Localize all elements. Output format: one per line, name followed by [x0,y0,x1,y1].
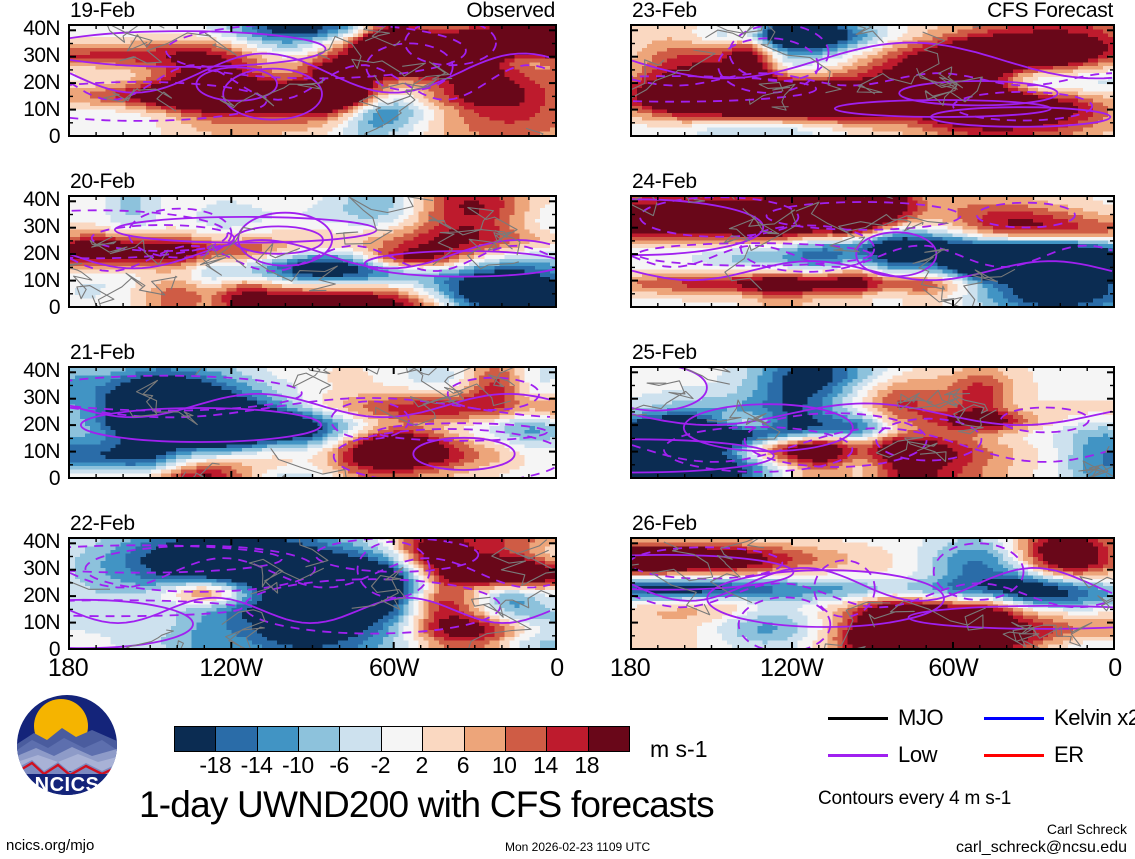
y-tick-label: 10N [0,441,60,462]
y-tick-label: 40N [0,18,60,39]
colorbar-swatch [339,727,380,751]
shaded-field [70,539,555,648]
colorbar-tick-label: -2 [371,754,390,777]
panel-frame [68,366,557,479]
colorbar-tick-label: -10 [282,754,314,777]
legend-entry: Kelvin x2 [984,707,1135,729]
colorbar-tick-label: -14 [241,754,273,777]
colorbar-swatch [215,727,256,751]
legend-label: ER [1054,744,1084,766]
panel-date-label: 21-Feb [70,342,135,363]
map-panel: 23-FebCFS Forecast [630,24,1115,137]
footer-timestamp: Mon 2026-02-23 1109 UTC [505,841,650,853]
colorbar-tick-label: 14 [533,754,558,777]
figure-canvas: 19-FebObserved40N30N20N10N020-Feb40N30N2… [0,0,1135,859]
colorbar-tick-label: -18 [199,754,231,777]
shaded-field [632,539,1113,648]
y-tick-label: 20N [0,585,60,606]
legend-label: Kelvin x2 [1054,707,1135,729]
colorbar-swatch [422,727,463,751]
panel-frame [68,195,557,308]
y-tick-label: 0 [0,297,60,318]
ncics-logo-mark: NCICS [14,692,120,798]
panel-frame [630,537,1115,650]
legend-line-swatch [984,717,1044,720]
legend-line-swatch [828,754,888,757]
panel-date-label: 24-Feb [632,171,697,192]
map-panel: 24-Feb [630,195,1115,308]
panel-frame [630,366,1115,479]
colorbar [174,726,630,752]
colorbar-tick-label: 2 [415,754,427,777]
shaded-field [70,197,555,306]
footer-site-link[interactable]: ncics.org/mjo [6,838,94,853]
colorbar-swatch [546,727,587,751]
credit-author: Carl Schreck [1047,822,1127,836]
colorbar-swatch [298,727,339,751]
shaded-field [70,368,555,477]
panel-date-label: 19-Feb [70,0,135,21]
y-tick-label: 20N [0,243,60,264]
panel-frame [68,24,557,137]
y-tick-label: 40N [0,189,60,210]
x-tick-label: 180 [48,656,88,681]
main-title: 1-day UWND200 with CFS forecasts [139,786,714,823]
shaded-field [70,26,555,135]
ncics-logo[interactable]: NCICS [14,692,120,798]
x-tick-label: 0 [1108,656,1121,681]
credit-email[interactable]: carl_schreck@ncsu.edu [956,840,1127,856]
column-header-right: CFS Forecast [987,0,1113,21]
map-panel: 21-Feb [68,366,557,479]
legend-label: MJO [898,707,943,729]
panel-frame [68,537,557,650]
map-panel: 26-Feb [630,537,1115,650]
x-tick-label: 180 [610,656,650,681]
legend-label: Low [898,744,937,766]
y-tick-label: 0 [0,126,60,147]
map-panel: 22-Feb [68,537,557,650]
map-panel: 25-Feb [630,366,1115,479]
colorbar-tick-label: 6 [457,754,469,777]
y-tick-label: 40N [0,360,60,381]
y-tick-label: 10N [0,612,60,633]
column-header-left: Observed [466,0,555,21]
panel-date-label: 23-Feb [632,0,697,21]
y-tick-label: 10N [0,99,60,120]
x-tick-label: 0 [550,656,563,681]
contour-interval-note: Contours every 4 m s-1 [818,789,1011,808]
colorbar-swatch [257,727,298,751]
colorbar-ticklabels: -18-14-10-6-226101418 [174,754,628,782]
panel-date-label: 20-Feb [70,171,135,192]
x-tick-label: 60W [928,656,978,681]
x-tick-label: 120W [199,656,262,681]
shaded-field [632,197,1113,306]
y-tick-label: 10N [0,270,60,291]
colorbar-swatch [505,727,546,751]
y-tick-label: 0 [0,468,60,489]
colorbar-swatch [175,727,215,751]
colorbar-tick-label: 10 [492,754,517,777]
colorbar-tick-label: 18 [574,754,599,777]
colorbar-tick-label: -6 [329,754,348,777]
colorbar-units-label: m s-1 [650,738,708,761]
panel-date-label: 26-Feb [632,513,697,534]
y-tick-label: 40N [0,531,60,552]
legend-entry: ER [984,744,1084,766]
legend-line-swatch [828,717,888,720]
shaded-field [632,368,1113,477]
shaded-field [632,26,1113,135]
colorbar-swatch [588,727,629,751]
legend-entry: Low [828,744,937,766]
y-tick-label: 20N [0,414,60,435]
x-tick-label: 120W [760,656,823,681]
panel-date-label: 22-Feb [70,513,135,534]
y-tick-label: 30N [0,387,60,408]
panel-frame [630,24,1115,137]
colorbar-swatch [381,727,422,751]
y-tick-label: 30N [0,216,60,237]
legend-entry: MJO [828,707,943,729]
y-tick-label: 30N [0,558,60,579]
map-panel: 19-FebObserved [68,24,557,137]
y-tick-label: 30N [0,45,60,66]
panel-frame [630,195,1115,308]
map-panel: 20-Feb [68,195,557,308]
panel-date-label: 25-Feb [632,342,697,363]
colorbar-swatch [464,727,505,751]
y-tick-label: 20N [0,72,60,93]
legend-line-swatch [984,754,1044,757]
x-tick-label: 60W [369,656,419,681]
